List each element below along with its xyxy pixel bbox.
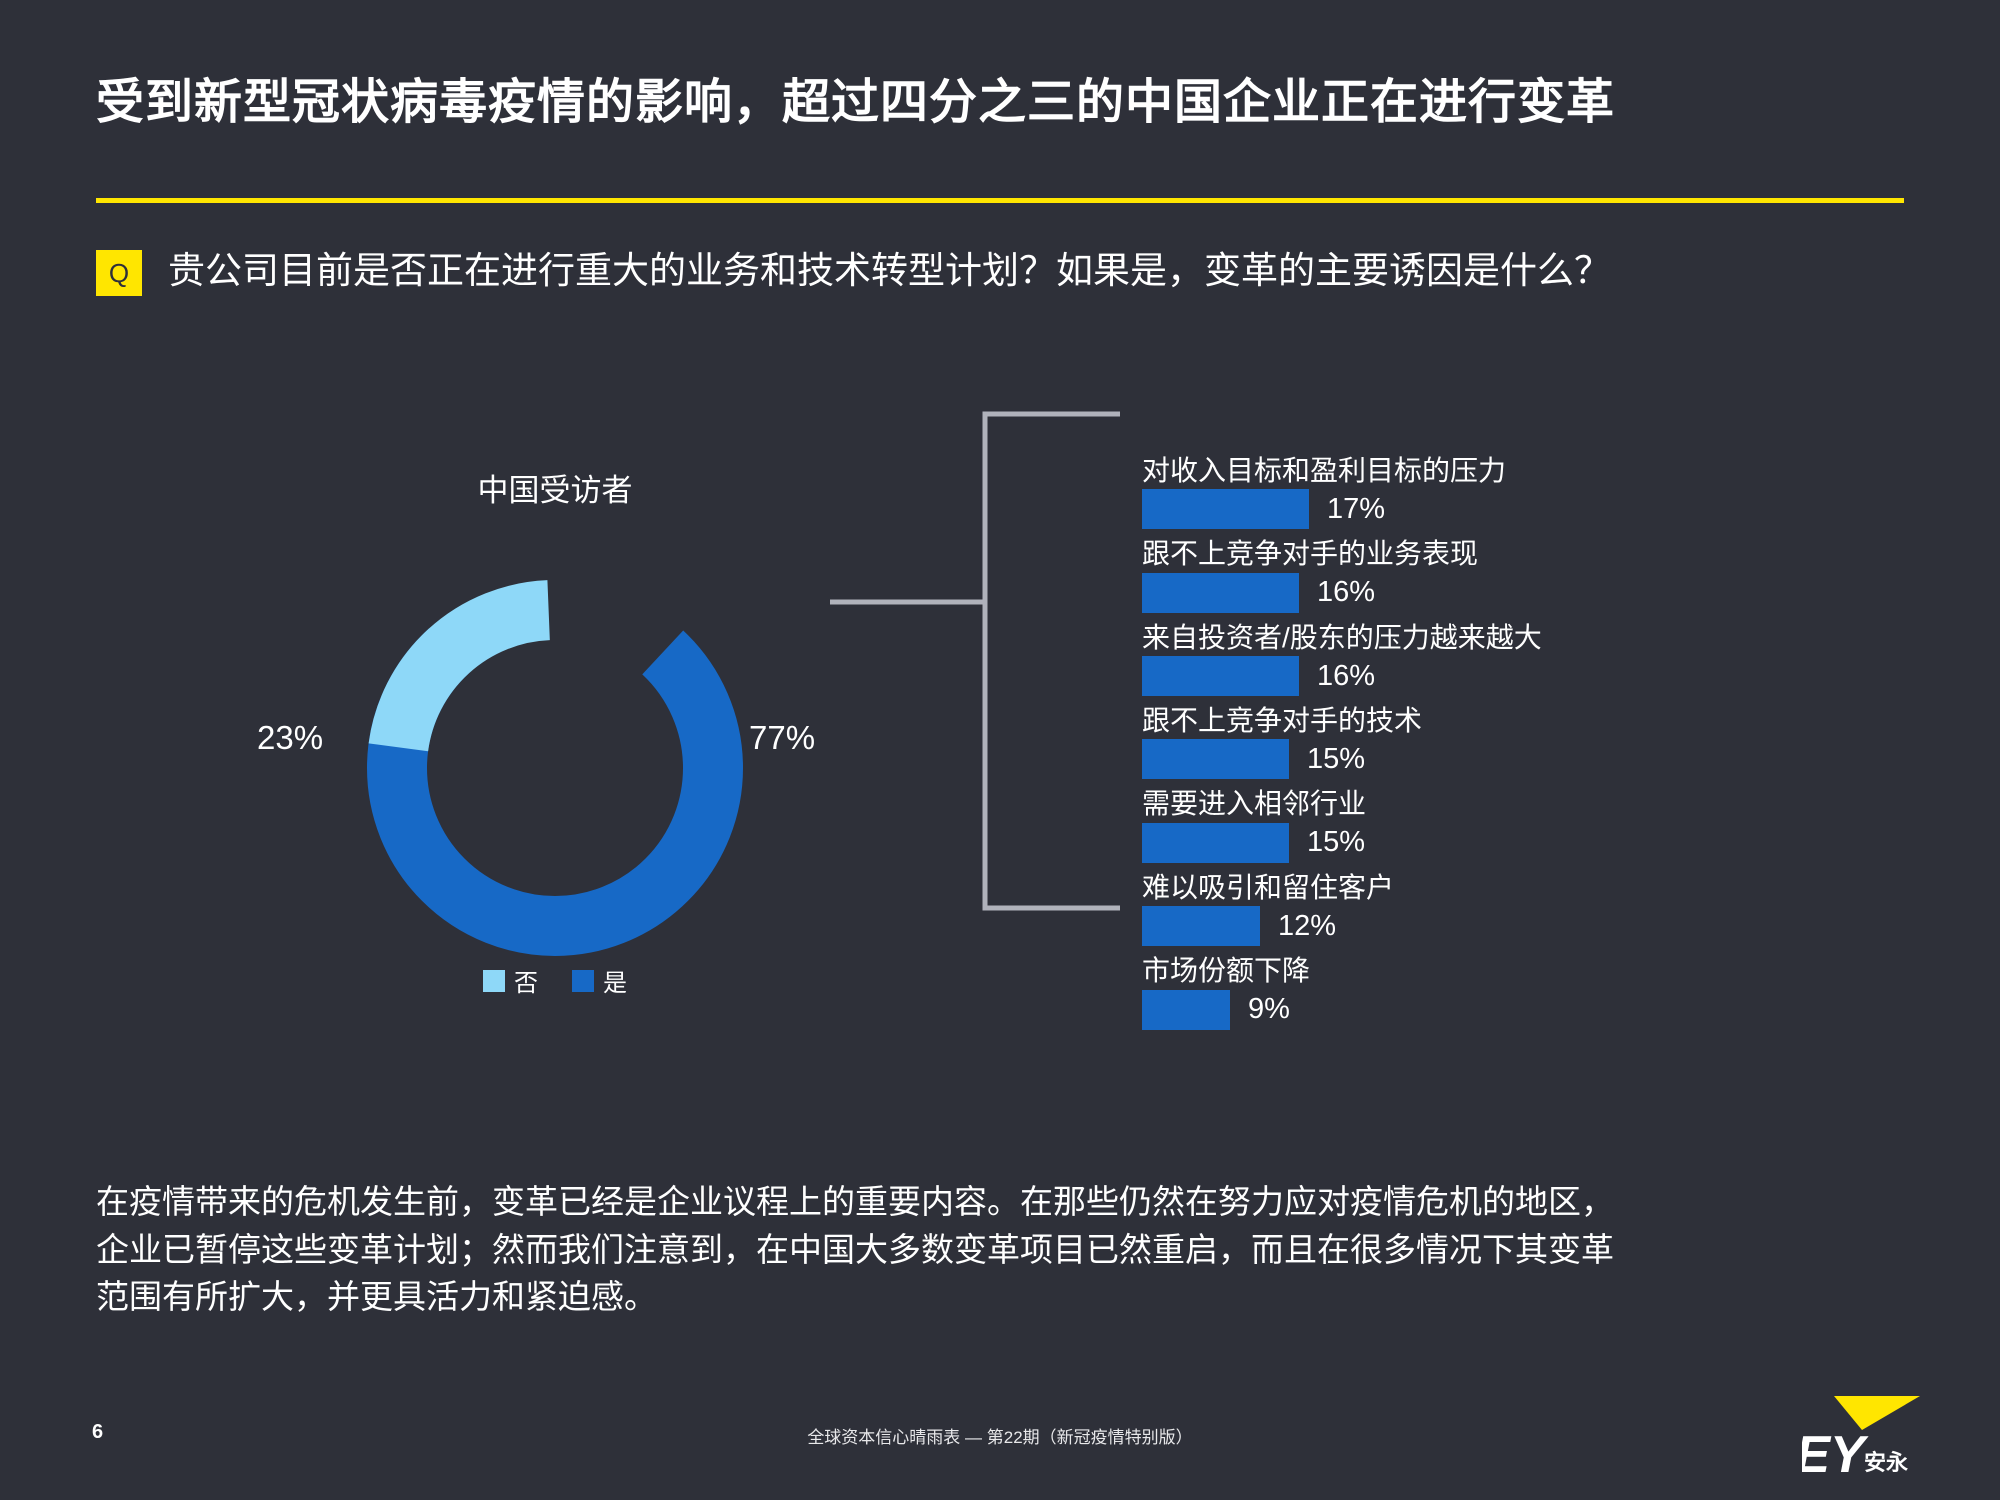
bar-label: 来自投资者/股东的压力越来越大 [1142,622,1742,653]
question-row: Q 贵公司目前是否正在进行重大的业务和技术转型计划？如果是，变革的主要诱因是什么… [96,248,1611,296]
bar-row: 9% [1142,990,1742,1030]
body-line: 范围有所扩大，并更具活力和紧迫感。 [96,1273,1916,1321]
drivers-bar-chart: 对收入目标和盈利目标的压力 17% 跟不上竞争对手的业务表现 16% 来自投资者… [1142,455,1742,1039]
bar-item: 需要进入相邻行业 15% [1142,788,1742,862]
bar-item: 难以吸引和留住客户 12% [1142,872,1742,946]
legend-label-yes: 是 [603,963,627,998]
bar-fill [1142,823,1289,863]
ey-logo: EY 安永 [1802,1396,1922,1476]
body-copy: 在疫情带来的危机发生前，变革已经是企业议程上的重要内容。在那些仍然在努力应对疫情… [96,1178,1916,1321]
bar-label: 需要进入相邻行业 [1142,788,1742,819]
bar-label: 市场份额下降 [1142,955,1742,986]
donut-chart-title: 中国受访者 [255,465,855,510]
donut-chart-svg [350,563,760,973]
bar-fill [1142,739,1289,779]
bar-value: 12% [1278,910,1336,943]
legend-item-yes: 是 [572,963,627,998]
legend-item-no: 否 [483,963,538,998]
bar-value: 15% [1307,743,1365,776]
donut-chart: 中国受访者 23% 77% 否 是 [255,465,855,1025]
bar-row: 15% [1142,739,1742,779]
bar-fill [1142,489,1309,529]
legend-swatch-no [483,970,505,992]
bar-item: 对收入目标和盈利目标的压力 17% [1142,455,1742,529]
donut-legend: 否 是 [255,963,855,998]
ey-logo-text: EY [1802,1426,1869,1476]
bracket-connector [830,410,1150,920]
body-line: 企业已暂停这些变革计划；然而我们注意到，在中国大多数变革项目已然重启，而且在很多… [96,1226,1916,1274]
bar-row: 15% [1142,823,1742,863]
bar-row: 16% [1142,573,1742,613]
bar-item: 市场份额下降 9% [1142,955,1742,1029]
question-text: 贵公司目前是否正在进行重大的业务和技术转型计划？如果是，变革的主要诱因是什么？ [168,248,1611,294]
title-divider [96,198,1904,203]
bar-label: 对收入目标和盈利目标的压力 [1142,455,1742,486]
bar-value: 16% [1317,660,1375,693]
bar-fill [1142,656,1299,696]
bar-value: 17% [1327,493,1385,526]
bar-row: 17% [1142,489,1742,529]
bar-label: 难以吸引和留住客户 [1142,872,1742,903]
legend-label-no: 否 [514,963,538,998]
bar-label: 跟不上竞争对手的技术 [1142,705,1742,736]
question-badge: Q [96,250,142,296]
bar-fill [1142,990,1230,1030]
bar-item: 来自投资者/股东的压力越来越大 16% [1142,622,1742,696]
page-title: 受到新型冠状病毒疫情的影响，超过四分之三的中国企业正在进行变革 [96,62,1615,132]
bar-item: 跟不上竞争对手的技术 15% [1142,705,1742,779]
bar-row: 12% [1142,906,1742,946]
legend-swatch-yes [572,970,594,992]
body-line: 在疫情带来的危机发生前，变革已经是企业议程上的重要内容。在那些仍然在努力应对疫情… [96,1178,1916,1226]
bar-value: 9% [1248,993,1290,1026]
ey-logo-cn-text: 安永 [1864,1450,1908,1476]
footer-caption: 全球资本信心晴雨表 — 第22期（新冠疫情特别版） [0,1423,2000,1448]
bar-fill [1142,573,1299,613]
donut-value-no: 23% [257,719,323,757]
bar-fill [1142,906,1260,946]
bar-value: 16% [1317,576,1375,609]
bar-value: 15% [1307,826,1365,859]
bar-item: 跟不上竞争对手的业务表现 16% [1142,538,1742,612]
bar-row: 16% [1142,656,1742,696]
donut-value-yes: 77% [749,719,815,757]
bar-label: 跟不上竞争对手的业务表现 [1142,538,1742,569]
ey-beam-icon [1834,1396,1920,1430]
